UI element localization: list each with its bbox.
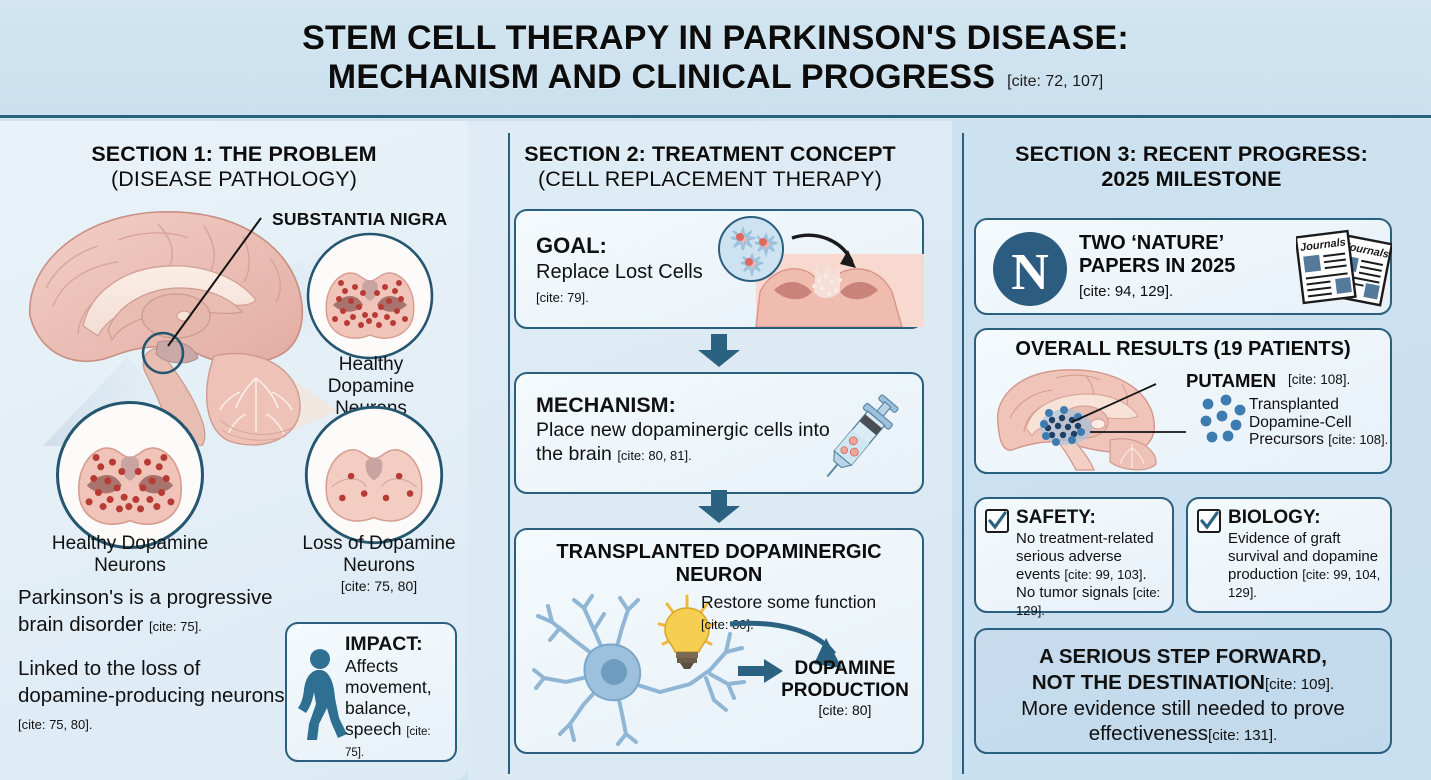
section-2-heading: SECTION 2: TREATMENT CONCEPT (CELL REPLA… bbox=[468, 142, 952, 192]
impact-text: IMPACT: Affects movement, balance, speec… bbox=[345, 633, 449, 761]
putamen-cite: [cite: 108]. bbox=[1288, 372, 1350, 387]
column-divider-1 bbox=[508, 133, 510, 774]
impact-card: IMPACT: Affects movement, balance, speec… bbox=[285, 622, 457, 762]
biology-label: BIOLOGY: bbox=[1228, 507, 1321, 528]
goal-body: Replace Lost Cells bbox=[536, 261, 703, 283]
loss-neurons-label: Loss of Dopamine Neurons bbox=[288, 533, 470, 577]
substantia-nigra-label: SUBSTANTIA NIGRA bbox=[272, 209, 447, 230]
title-bar: STEM CELL THERAPY IN PARKINSON'S DISEASE… bbox=[0, 0, 1431, 118]
section-3-heading: SECTION 3: RECENT PROGRESS: 2025 MILESTO… bbox=[952, 142, 1431, 192]
nature-papers-text: TWO ‘NATURE’ PAPERS IN 2025 [cite: 94, 1… bbox=[1079, 232, 1235, 302]
putamen-label: PUTAMEN bbox=[1186, 370, 1276, 392]
dopamine-production-cite: [cite: 80] bbox=[769, 702, 921, 718]
goal-label: GOAL: bbox=[536, 233, 607, 258]
section-1-heading: SECTION 1: THE PROBLEM (DISEASE PATHOLOG… bbox=[0, 142, 468, 192]
section-1-paragraph-1-text: Parkinson's is a progressive brain disor… bbox=[18, 586, 273, 636]
loss-neurons-citation: [cite: 75, 80] bbox=[288, 578, 470, 594]
checkbox-checked-icon bbox=[984, 508, 1010, 534]
conclusion-line-2-cite: [cite: 109]. bbox=[1265, 676, 1334, 693]
conclusion-line-2: NOT THE DESTINATION bbox=[1032, 671, 1265, 694]
section-1-paragraph-2-text: Linked to the loss of dopamine-producing… bbox=[18, 657, 285, 707]
biology-card: BIOLOGY: Evidence of graft survival and … bbox=[1186, 497, 1392, 613]
down-arrow-goal-to-mechanism bbox=[696, 334, 742, 368]
section-1-heading-sub: (DISEASE PATHOLOGY) bbox=[0, 167, 468, 192]
nature-logo-icon: N bbox=[992, 231, 1068, 307]
neuron-card-heading: TRANSPLANTED DOPAMINERGIC NEURON bbox=[516, 541, 922, 588]
title-line-1: STEM CELL THERAPY IN PARKINSON'S DISEASE… bbox=[302, 19, 1129, 57]
section-1-paragraph-1-cite: [cite: 75]. bbox=[149, 619, 202, 634]
section-1-paragraph-1: Parkinson's is a progressive brain disor… bbox=[18, 585, 296, 638]
dopamine-production-label: DOPAMINE PRODUCTION [cite: 80] bbox=[769, 658, 921, 718]
title-citation: [cite: 72, 107] bbox=[1007, 73, 1103, 96]
mechanism-text: MECHANISM: Place new dopaminergic cells … bbox=[536, 392, 836, 466]
safety-text: SAFETY: No treatment-related serious adv… bbox=[1016, 507, 1166, 620]
infographic-root: STEM CELL THERAPY IN PARKINSON'S DISEASE… bbox=[0, 0, 1431, 780]
restore-function-body: Restore some function bbox=[701, 592, 876, 612]
nature-cite: [cite: 94, 129]. bbox=[1079, 283, 1173, 300]
goal-text: GOAL: Replace Lost Cells [cite: 79]. bbox=[536, 233, 703, 309]
precursors-cite: [cite: 108]. bbox=[1328, 432, 1388, 447]
healthy-neurons-circle-top bbox=[305, 231, 435, 361]
section-3-heading-main: SECTION 3: RECENT PROGRESS: bbox=[952, 142, 1431, 167]
down-arrow-mechanism-to-neuron bbox=[696, 490, 742, 524]
nature-papers-card: N TWO ‘NATURE’ PAPERS IN 2025 [cite: 94,… bbox=[974, 218, 1392, 315]
section-1-heading-main: SECTION 1: THE PROBLEM bbox=[0, 142, 468, 167]
checkbox-checked-icon bbox=[1196, 508, 1222, 534]
title-line-2: MECHANISM AND CLINICAL PROGRESS bbox=[328, 58, 995, 96]
conclusion-line-1: A SERIOUS STEP FORWARD, bbox=[1039, 645, 1327, 668]
conclusion-line-3-cite: [cite: 131]. bbox=[1208, 727, 1277, 744]
section-1-body-text: Parkinson's is a progressive brain disor… bbox=[18, 585, 296, 736]
section-2-heading-main: SECTION 2: TREATMENT CONCEPT bbox=[468, 142, 952, 167]
stem-cells-into-tissue-icon bbox=[716, 214, 924, 327]
dopamine-precursor-dots-icon bbox=[1198, 394, 1250, 446]
journals-icon: Journals Journals bbox=[1296, 228, 1392, 312]
safety-cite-a: [cite: 99, 103] bbox=[1064, 567, 1142, 582]
brain-putamen-icon bbox=[986, 362, 1186, 472]
safety-card: SAFETY: No treatment-related serious adv… bbox=[974, 497, 1174, 613]
section-1-paragraph-2: Linked to the loss of dopamine-producing… bbox=[18, 656, 296, 736]
section-1-paragraph-2-cite: [cite: 75, 80]. bbox=[18, 717, 92, 732]
biology-text: BIOLOGY: Evidence of graft survival and … bbox=[1228, 507, 1384, 602]
conclusion-line-3: More evidence still needed to prove effe… bbox=[1021, 697, 1345, 746]
nature-logo-letter: N bbox=[1011, 244, 1049, 301]
nature-line-1: TWO ‘NATURE’ bbox=[1079, 232, 1224, 254]
conclusion-card: A SERIOUS STEP FORWARD, NOT THE DESTINAT… bbox=[974, 628, 1392, 754]
goal-card: GOAL: Replace Lost Cells [cite: 79]. bbox=[514, 209, 924, 329]
goal-cite: [cite: 79]. bbox=[536, 290, 589, 305]
healthy-neurons-label-bottom: Healthy Dopamine Neurons bbox=[46, 533, 214, 577]
transplanted-neuron-card: TRANSPLANTED DOPAMINERGIC NEURON bbox=[514, 528, 924, 754]
section-2-heading-sub: (CELL REPLACEMENT THERAPY) bbox=[468, 167, 952, 192]
mechanism-label: MECHANISM: bbox=[536, 393, 676, 417]
syringe-icon bbox=[804, 380, 916, 492]
mechanism-card: MECHANISM: Place new dopaminergic cells … bbox=[514, 372, 924, 494]
loss-neurons-circle bbox=[303, 404, 445, 546]
impact-label: IMPACT: bbox=[345, 633, 423, 655]
precursors-text: Transplanted Dopamine-Cell Precursors [c… bbox=[1249, 396, 1389, 449]
safety-label: SAFETY: bbox=[1016, 507, 1096, 528]
nature-line-2: PAPERS IN 2025 bbox=[1079, 255, 1235, 277]
conclusion-text: A SERIOUS STEP FORWARD, NOT THE DESTINAT… bbox=[984, 644, 1382, 747]
walking-person-icon bbox=[295, 648, 347, 744]
dopamine-production-text: DOPAMINE PRODUCTION bbox=[781, 658, 909, 701]
overall-results-heading: OVERALL RESULTS (19 PATIENTS) bbox=[976, 338, 1390, 361]
column-divider-2 bbox=[962, 133, 964, 774]
section-3-heading-sub: 2025 MILESTONE bbox=[952, 167, 1431, 192]
overall-results-card: OVERALL RESULTS (19 PATIENTS) bbox=[974, 328, 1392, 474]
mechanism-cite: [cite: 80, 81]. bbox=[617, 448, 691, 463]
healthy-neurons-circle-bottom bbox=[54, 399, 206, 551]
